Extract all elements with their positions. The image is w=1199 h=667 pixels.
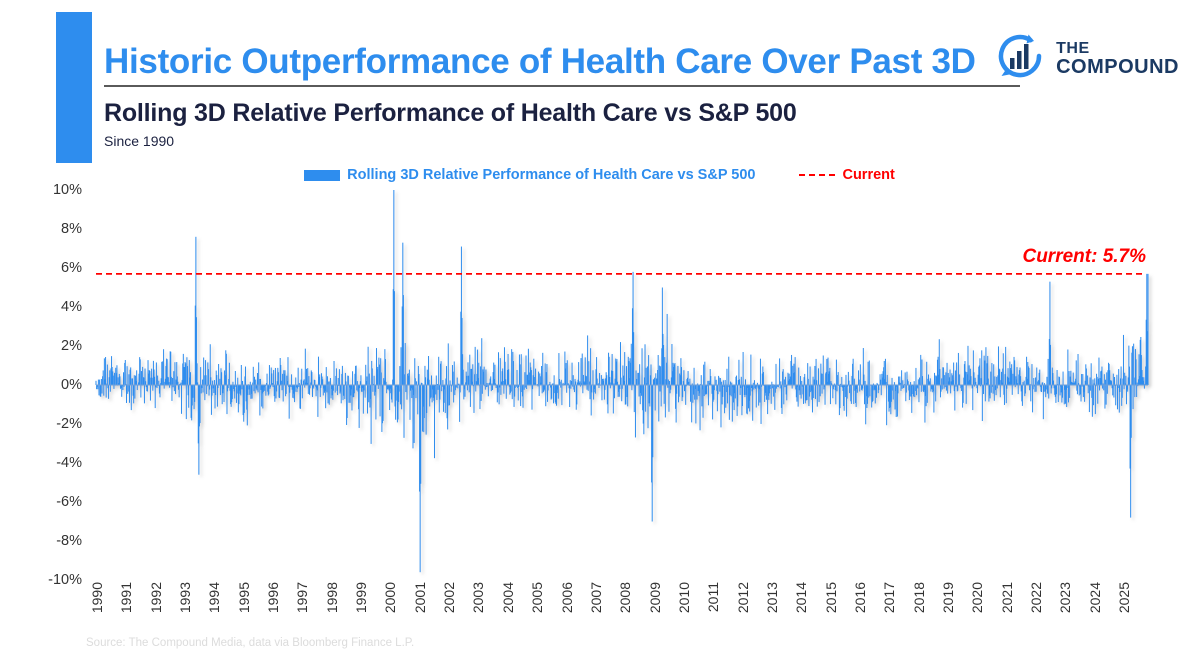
bar	[460, 385, 461, 392]
bar	[348, 385, 349, 403]
bar	[926, 362, 927, 385]
bar	[1087, 376, 1088, 385]
bar	[1131, 385, 1132, 438]
bar	[541, 366, 542, 385]
bar	[457, 378, 458, 385]
bar	[604, 385, 605, 390]
bar	[754, 380, 755, 385]
bar	[679, 385, 680, 397]
bar	[722, 385, 723, 397]
bar	[1035, 377, 1036, 385]
bar	[983, 385, 984, 394]
x-axis-tick-label: 2001	[412, 582, 428, 613]
bar	[953, 363, 954, 385]
bar	[729, 385, 730, 395]
bar	[538, 372, 539, 385]
bar	[252, 385, 253, 399]
bar	[651, 364, 652, 385]
bar	[816, 380, 817, 385]
bar	[616, 359, 617, 385]
bar	[1031, 364, 1032, 385]
bar	[927, 385, 928, 403]
bar	[301, 369, 302, 385]
bar	[930, 378, 931, 385]
x-axis-tick-label: 1993	[177, 582, 193, 613]
bar	[566, 385, 567, 393]
bar	[670, 385, 671, 390]
bar	[445, 385, 446, 413]
bar	[129, 385, 130, 403]
bar	[254, 377, 255, 385]
bar	[642, 348, 643, 385]
bar	[403, 295, 404, 385]
bar	[295, 385, 296, 392]
x-axis-tick-label: 2021	[999, 582, 1015, 613]
x-axis-tick-label: 2003	[470, 582, 486, 613]
bar	[237, 378, 238, 385]
bar	[1041, 385, 1042, 392]
bar	[405, 385, 406, 392]
bar	[454, 361, 455, 385]
x-axis-tick-label: 2008	[617, 582, 633, 613]
bar	[481, 338, 482, 385]
y-axis-tick-label: -4%	[56, 455, 82, 471]
bar	[330, 378, 331, 385]
bar	[694, 368, 695, 385]
bar	[158, 381, 159, 385]
bar	[159, 385, 160, 397]
x-axis-tick-label: 2005	[529, 582, 545, 613]
bar	[240, 385, 241, 395]
bar	[990, 385, 991, 398]
chart-area: 10%8%6%4%2%0%-2%-4%-6%-8%-10% Current: 5…	[0, 190, 1199, 590]
x-axis-tick-label: 2020	[969, 582, 985, 613]
bar	[128, 374, 129, 385]
bar	[803, 385, 804, 404]
bar	[287, 357, 288, 385]
bar	[1094, 378, 1095, 385]
bar	[913, 385, 914, 396]
bar	[381, 372, 382, 385]
bar	[841, 377, 842, 385]
bar	[716, 380, 717, 385]
bar	[1092, 385, 1093, 417]
x-axis-tick-label: 2009	[647, 582, 663, 613]
bar	[99, 380, 100, 385]
bar	[728, 357, 729, 385]
bar	[701, 375, 702, 385]
bar	[479, 385, 480, 409]
bar	[674, 363, 675, 385]
bar	[622, 385, 623, 389]
bar	[1033, 378, 1034, 385]
bar	[1101, 367, 1102, 385]
bar	[999, 369, 1000, 385]
bar	[959, 374, 960, 385]
bar	[1097, 385, 1098, 404]
bar	[351, 385, 352, 410]
bar	[676, 385, 677, 394]
bar	[835, 385, 836, 404]
bar	[896, 385, 897, 417]
bar	[933, 385, 934, 413]
bar	[1005, 347, 1006, 385]
x-axis: 1990199119921993199419951996199719981999…	[96, 582, 1148, 642]
bar	[909, 385, 910, 396]
bar	[783, 369, 784, 385]
chart-subtitle: Rolling 3D Relative Performance of Healt…	[104, 99, 1024, 128]
bar	[470, 385, 471, 407]
bar	[394, 291, 395, 385]
bar	[809, 385, 810, 397]
bar	[570, 380, 571, 385]
bar	[646, 368, 647, 385]
bar	[700, 385, 701, 430]
bar	[994, 385, 995, 401]
bar	[988, 379, 989, 385]
bar	[1069, 371, 1070, 385]
bar	[996, 377, 997, 385]
bar	[363, 385, 364, 390]
bar	[683, 370, 684, 385]
bar	[174, 385, 175, 391]
bar	[946, 385, 947, 391]
compound-bar-chart-bubble-icon	[994, 30, 1046, 87]
bar	[965, 372, 966, 385]
bar	[726, 369, 727, 385]
bar	[821, 373, 822, 385]
bar	[473, 385, 474, 413]
bar	[796, 385, 797, 402]
bar	[1077, 385, 1078, 394]
bar	[863, 375, 864, 385]
bar	[892, 378, 893, 385]
bar	[982, 385, 983, 421]
bar	[621, 378, 622, 385]
bar	[125, 360, 126, 385]
bar	[1113, 374, 1114, 385]
bar	[439, 385, 440, 400]
bar	[1003, 353, 1004, 385]
bar	[572, 363, 573, 385]
bar	[425, 377, 426, 385]
bar	[395, 385, 396, 420]
bar	[967, 346, 968, 385]
bar	[523, 385, 524, 408]
bar	[1033, 385, 1034, 389]
bar	[480, 366, 481, 385]
bar	[633, 332, 634, 385]
bar	[906, 385, 907, 393]
bar	[714, 385, 715, 390]
bar	[524, 372, 525, 385]
bar	[98, 385, 99, 395]
bar	[868, 362, 869, 385]
bar	[463, 370, 464, 385]
bar	[810, 367, 811, 385]
bar	[506, 385, 507, 399]
bar	[791, 355, 792, 385]
bar	[453, 385, 454, 402]
bar	[985, 347, 986, 385]
bar	[660, 366, 661, 385]
bar	[208, 369, 209, 385]
bar	[202, 380, 203, 385]
bar	[1024, 381, 1025, 385]
bar	[354, 385, 355, 393]
bar	[727, 385, 728, 403]
bar	[221, 372, 222, 385]
bar	[756, 385, 757, 408]
bar	[781, 385, 782, 414]
bar	[281, 381, 282, 385]
bar	[853, 385, 854, 404]
bar	[186, 385, 187, 419]
bar	[127, 366, 128, 385]
bar	[326, 367, 327, 385]
bar	[1119, 385, 1120, 392]
bar	[298, 368, 299, 385]
bar	[993, 364, 994, 385]
bar	[344, 385, 345, 399]
bar	[942, 385, 943, 390]
bar	[747, 385, 748, 414]
bar	[599, 373, 600, 385]
bar	[753, 385, 754, 390]
bar	[750, 385, 751, 396]
bar	[283, 385, 284, 402]
bar	[209, 385, 210, 390]
bar	[1076, 360, 1077, 385]
bar	[663, 345, 664, 385]
bar	[1018, 385, 1019, 394]
bar	[1103, 385, 1104, 390]
bar	[267, 374, 268, 385]
bar	[333, 385, 334, 391]
bar	[732, 385, 733, 422]
bar	[359, 385, 360, 428]
bar	[469, 355, 470, 385]
bar	[371, 385, 372, 444]
bar	[601, 385, 602, 400]
bar	[200, 385, 201, 423]
bar	[424, 385, 425, 418]
bar	[377, 367, 378, 385]
y-axis-tick-label: -2%	[56, 416, 82, 432]
bar	[614, 385, 615, 398]
bar	[736, 376, 737, 385]
bar	[122, 385, 123, 390]
bar	[742, 385, 743, 406]
bar	[652, 385, 653, 457]
bar	[1047, 385, 1048, 394]
bar	[1012, 374, 1013, 385]
bar	[488, 385, 489, 396]
bar	[143, 378, 144, 385]
bar	[400, 385, 401, 404]
bar	[1022, 385, 1023, 406]
bar	[869, 361, 870, 385]
bar	[401, 385, 402, 409]
bar	[915, 368, 916, 385]
bar	[485, 370, 486, 385]
logo-line-1: THE	[1056, 41, 1179, 57]
header: Historic Outperformance of Health Care O…	[104, 12, 1024, 149]
bar	[1081, 374, 1082, 385]
bar	[291, 374, 292, 385]
bar	[854, 379, 855, 385]
y-axis-tick-label: -8%	[56, 533, 82, 549]
bar	[695, 385, 696, 423]
x-axis-tick-label: 2019	[940, 582, 956, 613]
bar	[260, 379, 261, 385]
bar	[744, 385, 745, 397]
bar	[708, 385, 709, 405]
bar	[306, 369, 307, 385]
x-axis-tick-label: 2025	[1116, 582, 1132, 613]
bar	[244, 385, 245, 413]
bar	[574, 385, 575, 392]
bar	[586, 376, 587, 385]
bar	[539, 385, 540, 396]
bar	[212, 385, 213, 396]
bar	[955, 370, 956, 385]
bar	[520, 385, 521, 406]
bar	[591, 385, 592, 392]
bar	[247, 385, 248, 395]
bar	[128, 385, 129, 392]
bar	[819, 385, 820, 402]
bar	[612, 371, 613, 385]
bar	[268, 385, 269, 394]
bar	[954, 385, 955, 411]
bar	[1143, 377, 1144, 385]
bar	[726, 385, 727, 392]
bar	[429, 380, 430, 385]
bar	[399, 385, 400, 392]
bar	[636, 379, 637, 385]
bar	[1104, 374, 1105, 385]
bar	[121, 385, 122, 397]
bar	[1057, 370, 1058, 385]
bar	[1030, 385, 1031, 401]
bar	[570, 385, 571, 389]
legend-item-series[interactable]: Rolling 3D Relative Performance of Healt…	[304, 167, 755, 183]
bar	[436, 385, 437, 400]
x-axis-tick-label: 1992	[148, 582, 164, 613]
bar	[406, 385, 407, 400]
bar	[434, 385, 435, 458]
bar	[731, 385, 732, 396]
bar	[1082, 374, 1083, 385]
bar	[624, 352, 625, 385]
bar	[431, 375, 432, 385]
bar	[455, 385, 456, 390]
bar	[658, 355, 659, 385]
bar	[704, 385, 705, 396]
bar	[553, 385, 554, 403]
bar	[840, 385, 841, 408]
bar	[545, 385, 546, 406]
bar	[741, 377, 742, 385]
bar	[188, 385, 189, 408]
page-title: Historic Outperformance of Health Care O…	[104, 12, 1024, 81]
bar	[405, 343, 406, 385]
x-axis-tick-label: 2014	[793, 582, 809, 613]
bar	[944, 385, 945, 389]
bar	[379, 365, 380, 385]
bar	[1097, 377, 1098, 385]
bar	[581, 358, 582, 385]
y-axis-tick-label: -10%	[48, 572, 82, 588]
bar	[453, 372, 454, 385]
bar	[286, 385, 287, 394]
bar	[206, 385, 207, 394]
bar	[430, 385, 431, 397]
bar	[436, 376, 437, 385]
bar	[274, 385, 275, 402]
bar	[597, 379, 598, 385]
bar	[595, 385, 596, 394]
bar	[569, 385, 570, 407]
plot-region[interactable]: Current: 5.7%	[96, 190, 1148, 580]
bar	[918, 385, 919, 402]
bar	[416, 381, 417, 385]
bar	[864, 385, 865, 404]
bar	[337, 385, 338, 395]
bar	[1056, 385, 1057, 394]
x-axis-tick-label: 1995	[236, 582, 252, 613]
bar	[300, 385, 301, 409]
bar	[1069, 385, 1070, 398]
bar	[576, 385, 577, 404]
bar	[886, 385, 887, 425]
bar	[872, 385, 873, 401]
bar	[808, 379, 809, 385]
bar	[308, 385, 309, 394]
legend-item-current[interactable]: Current	[799, 167, 894, 183]
bar	[545, 363, 546, 385]
bar	[887, 375, 888, 385]
bar	[154, 377, 155, 385]
bar	[275, 368, 276, 385]
bar	[941, 378, 942, 385]
bar	[1046, 385, 1047, 389]
bar	[110, 385, 111, 392]
bar	[372, 385, 373, 392]
bar	[582, 354, 583, 385]
bar	[558, 385, 559, 399]
bar	[785, 377, 786, 385]
bar	[215, 385, 216, 395]
bar	[830, 385, 831, 404]
legend-dashed-line-icon	[799, 174, 835, 176]
bar	[1048, 385, 1049, 399]
bar	[566, 363, 567, 385]
bar	[1106, 385, 1107, 405]
x-axis-tick-label: 1997	[294, 582, 310, 613]
bar	[649, 385, 650, 406]
bar	[1127, 385, 1128, 392]
bar	[1118, 369, 1119, 385]
bar	[829, 368, 830, 385]
x-axis-tick-label: 2017	[881, 582, 897, 613]
bar	[820, 385, 821, 396]
bar	[357, 381, 358, 385]
bar	[743, 352, 744, 385]
bar	[922, 376, 923, 385]
bar	[926, 385, 927, 406]
